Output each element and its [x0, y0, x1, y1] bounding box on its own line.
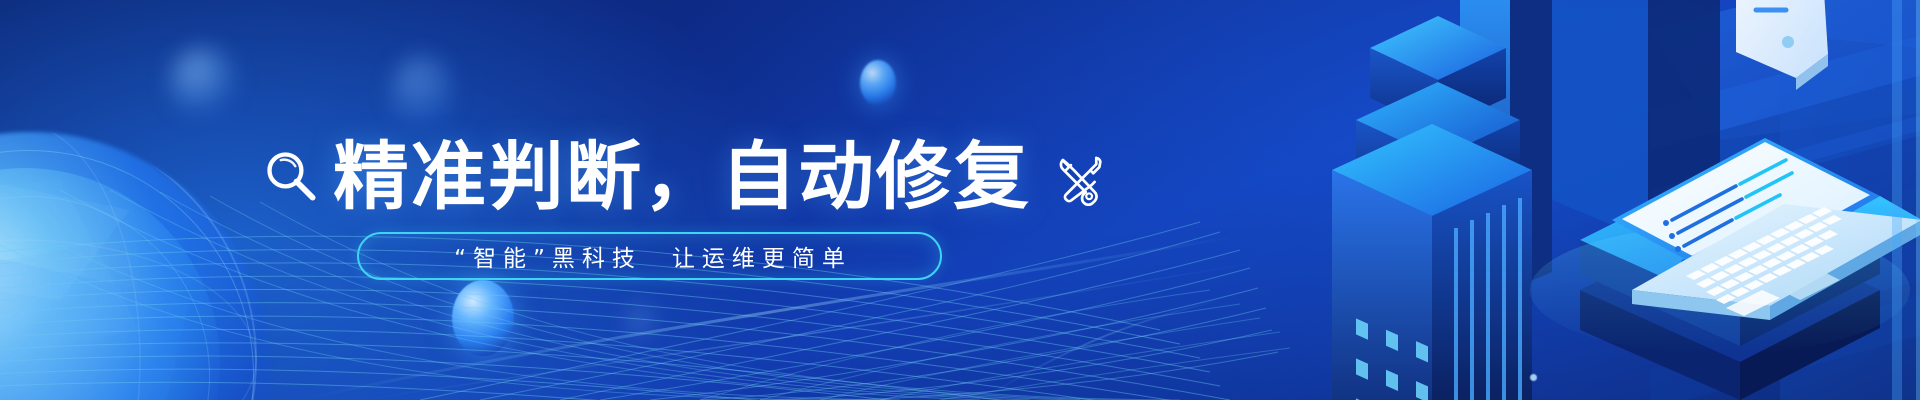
headline-row: 精准判断，自动修复 [262, 140, 1106, 214]
page-title: 精准判断，自动修复 [333, 140, 1031, 214]
subtitle-text: “智能”黑科技 让运维更简单 [447, 239, 852, 273]
promo-banner: 精准判断，自动修复 “智能”黑科技 让运维更简单 [0, 0, 1920, 400]
subtitle-pill: “智能”黑科技 让运维更简单 [357, 232, 942, 280]
illustration-svg [1180, 0, 1920, 400]
magnifier-icon [262, 146, 322, 208]
banner-copy: 精准判断，自动修复 “智能”黑科技 让运维更简单 [0, 0, 1180, 400]
wrench-screwdriver-icon [1052, 152, 1106, 206]
isometric-illustration [1180, 0, 1920, 400]
